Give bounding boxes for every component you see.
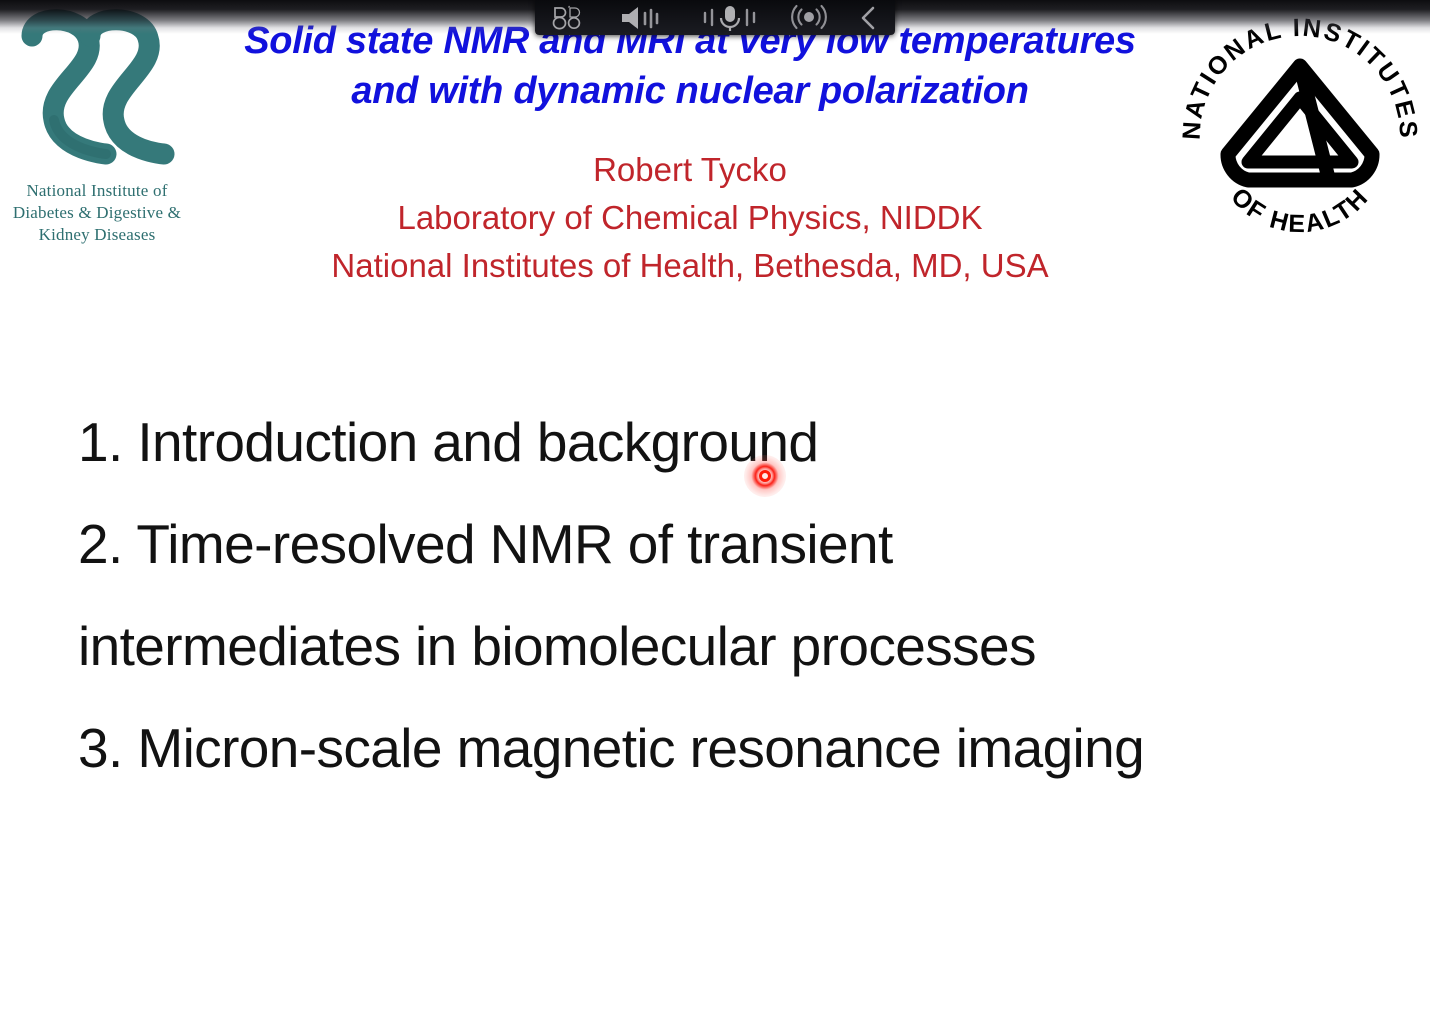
niddk-caption-line-2: Diabetes & Digestive & — [13, 203, 181, 222]
niddk-caption-line-1: National Institute of — [26, 181, 167, 200]
outline-list: 1. Introduction and background 2. Time-r… — [78, 398, 1408, 792]
outline-item-2: 2. Time-resolved NMR of transient — [78, 500, 1408, 588]
speaker-volume-icon[interactable] — [619, 0, 671, 35]
author-affiliation-block: Robert Tycko Laboratory of Chemical Phys… — [190, 146, 1190, 290]
author-institution: National Institutes of Health, Bethesda,… — [190, 242, 1190, 290]
author-lab: Laboratory of Chemical Physics, NIDDK — [190, 194, 1190, 242]
device-control-overlay[interactable] — [535, 0, 895, 35]
outline-item-2-cont: intermediates in biomolecular processes — [78, 602, 1408, 690]
outline-item-3: 3. Micron-scale magnetic resonance imagi… — [78, 704, 1408, 792]
wireless-broadcast-icon[interactable] — [789, 0, 829, 35]
outline-item-1: 1. Introduction and background — [78, 398, 1408, 486]
microphone-icon[interactable] — [701, 0, 759, 35]
niddk-caption-line-3: Kidney Diseases — [39, 225, 156, 244]
chevron-left-icon[interactable] — [858, 0, 880, 35]
author-name: Robert Tycko — [190, 146, 1190, 194]
bang-olufsen-logo-icon — [550, 0, 590, 35]
presentation-slide: National Institute of Diabetes & Digesti… — [0, 0, 1430, 1018]
slide-title-line-2: and with dynamic nuclear polarization — [150, 66, 1230, 116]
nih-ring-text-bottom: OF HEALTH — [1225, 183, 1374, 239]
svg-text:OF HEALTH: OF HEALTH — [1225, 183, 1374, 239]
niddk-logo-caption: National Institute of Diabetes & Digesti… — [2, 180, 192, 246]
